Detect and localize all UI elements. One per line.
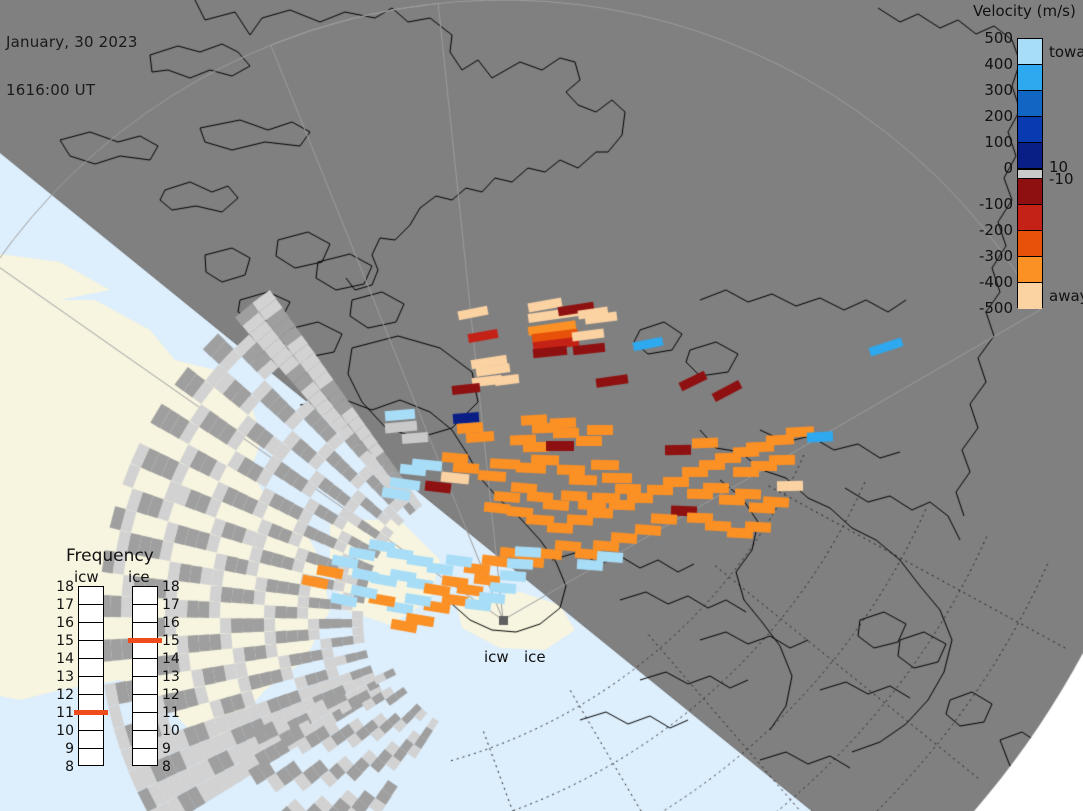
velocity-band-8 [1018, 257, 1042, 283]
velocity-tick-neg500: -500 [979, 299, 1013, 317]
timestamp-date: January, 30 2023 [6, 34, 138, 50]
frequency-cell [133, 659, 157, 677]
frequency-tick-icw-9: 9 [52, 740, 74, 758]
frequency-tick-icw-15: 15 [52, 632, 74, 650]
frequency-tick-ice-10: 10 [162, 722, 180, 740]
frequency-tick-ice-14: 14 [162, 650, 180, 668]
velocity-band-6 [1018, 205, 1042, 231]
frequency-tick-icw-12: 12 [52, 686, 74, 704]
frequency-cell [133, 641, 157, 659]
velocity-tick-300: 300 [984, 81, 1013, 99]
velocity-tick-neg200: -200 [979, 221, 1013, 239]
velocity-label-neg10: -10 [1049, 170, 1074, 188]
frequency-cell [79, 749, 103, 767]
velocity-tick-neg100: -100 [979, 195, 1013, 213]
velocity-band-neutral [1018, 169, 1042, 179]
frequency-tick-ice-9: 9 [162, 740, 171, 758]
frequency-cell [79, 677, 103, 695]
frequency-cell [79, 713, 103, 731]
frequency-tick-ice-13: 13 [162, 668, 180, 686]
frequency-marker-icw [74, 710, 108, 715]
frequency-tick-ice-11: 11 [162, 704, 180, 722]
frequency-tick-ice-8: 8 [162, 758, 171, 776]
frequency-cell [79, 641, 103, 659]
velocity-band-1 [1018, 65, 1042, 91]
frequency-cell [133, 731, 157, 749]
velocity-band-9 [1018, 283, 1042, 309]
frequency-legend: Frequency icw ice 1817161514131211109818… [52, 546, 217, 791]
velocity-label-away: away [1049, 287, 1083, 305]
frequency-tick-icw-8: 8 [52, 758, 74, 776]
frequency-cell [133, 695, 157, 713]
frequency-tick-icw-14: 14 [52, 650, 74, 668]
frequency-column-label-icw: icw [74, 568, 99, 586]
velocity-band-2 [1018, 91, 1042, 117]
site-label-ice: ice [524, 648, 546, 666]
frequency-cell [133, 587, 157, 605]
frequency-marker-ice [128, 638, 162, 643]
site-label-icw: icw [484, 648, 509, 666]
velocity-tick-100: 100 [984, 133, 1013, 151]
velocity-tick-neg400: -400 [979, 273, 1013, 291]
velocity-band-4 [1018, 143, 1042, 169]
velocity-band-3 [1018, 117, 1042, 143]
frequency-cell [79, 587, 103, 605]
frequency-cell [79, 731, 103, 749]
frequency-cell [79, 659, 103, 677]
frequency-column-ice [132, 586, 158, 766]
frequency-tick-ice-16: 16 [162, 614, 180, 632]
timestamp: January, 30 2023 1616:00 UT [6, 2, 138, 130]
frequency-cell [133, 749, 157, 767]
frequency-cell [79, 605, 103, 623]
velocity-tick-400: 400 [984, 55, 1013, 73]
timestamp-time: 1616:00 UT [6, 82, 138, 98]
velocity-band-7 [1018, 231, 1042, 257]
frequency-tick-icw-16: 16 [52, 614, 74, 632]
frequency-tick-icw-10: 10 [52, 722, 74, 740]
frequency-column-icw [78, 586, 104, 766]
velocity-band-5 [1018, 179, 1042, 205]
frequency-tick-ice-15: 15 [162, 632, 180, 650]
velocity-colorbar-title: Velocity (m/s) [973, 2, 1076, 20]
frequency-cell [133, 605, 157, 623]
velocity-tick-neg300: -300 [979, 247, 1013, 265]
velocity-colorbar-bands [1017, 38, 1043, 308]
frequency-tick-icw-18: 18 [52, 578, 74, 596]
frequency-cell [79, 623, 103, 641]
fan-plot-stage: January, 30 2023 1616:00 UT Velocity (m/… [0, 0, 1083, 811]
velocity-tick-500: 500 [984, 29, 1013, 47]
frequency-tick-ice-18: 18 [162, 578, 180, 596]
frequency-tick-icw-11: 11 [52, 704, 74, 722]
frequency-legend-title: Frequency [66, 546, 154, 566]
frequency-cell [133, 713, 157, 731]
frequency-cell [133, 677, 157, 695]
velocity-tick-200: 200 [984, 107, 1013, 125]
frequency-column-label-ice: ice [128, 568, 150, 586]
frequency-tick-icw-17: 17 [52, 596, 74, 614]
frequency-tick-icw-13: 13 [52, 668, 74, 686]
velocity-band-0 [1018, 39, 1042, 65]
frequency-tick-ice-17: 17 [162, 596, 180, 614]
velocity-label-toward: toward [1049, 43, 1083, 61]
velocity-colorbar: Velocity (m/s) 5004003002001000-100-200-… [955, 0, 1083, 340]
velocity-tick-0: 0 [1003, 159, 1013, 177]
frequency-tick-ice-12: 12 [162, 686, 180, 704]
